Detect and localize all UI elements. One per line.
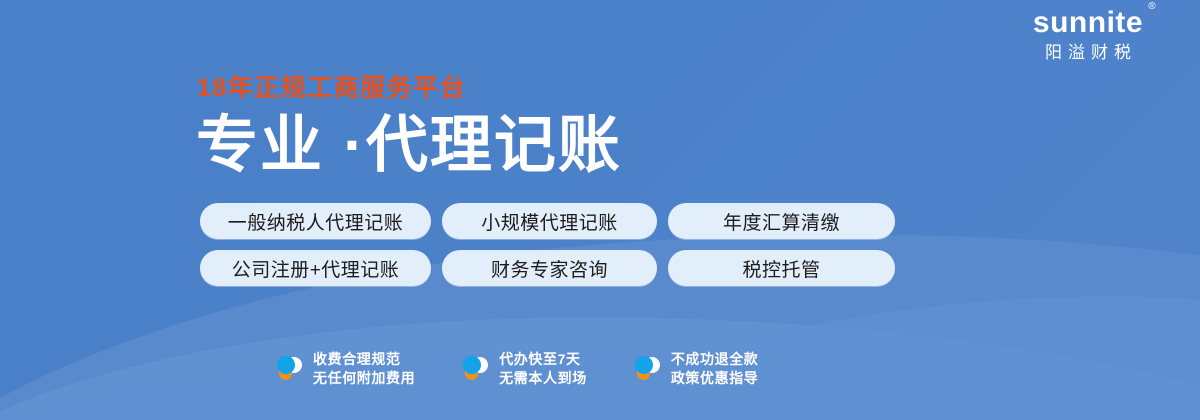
hero-kicker: 18年正规工商服务平台 [197, 73, 466, 103]
promo-banner: sunnite ® 阳溢财税 18年正规工商服务平台 专业 ·代理记账 一般纳税… [0, 0, 1200, 420]
logo-chinese-name: 阳溢财税 [998, 43, 1178, 63]
logo-wordmark: sunnite ® [1033, 6, 1143, 40]
feature-text: 收费合理规范 无任何附加费用 [313, 350, 415, 388]
feature-list: 收费合理规范 无任何附加费用 代办快至7天 无需本人到场 不成功退全款 [276, 350, 758, 388]
dot-moon-icon-dot [277, 356, 295, 374]
registered-trademark-icon: ® [1148, 2, 1156, 12]
feature-text: 代办快至7天 无需本人到场 [499, 350, 587, 388]
feature-text: 不成功退全款 政策优惠指导 [671, 350, 759, 388]
dot-moon-icon [276, 354, 304, 384]
service-pill[interactable]: 税控托管 [668, 250, 895, 286]
service-pill[interactable]: 公司注册+代理记账 [200, 250, 431, 286]
feature-line-1: 不成功退全款 [671, 351, 759, 367]
dot-moon-icon [634, 354, 662, 384]
feature-line-1: 收费合理规范 [313, 351, 401, 367]
feature-item: 收费合理规范 无任何附加费用 [276, 350, 415, 388]
service-pill[interactable]: 一般纳税人代理记账 [200, 203, 431, 239]
feature-line-2: 无任何附加费用 [313, 370, 415, 386]
feature-line-2: 无需本人到场 [499, 370, 587, 386]
dot-moon-icon-dot [635, 356, 653, 374]
service-pill-group: 一般纳税人代理记账 小规模代理记账 年度汇算清缴 公司注册+代理记账 财务专家咨… [200, 203, 900, 286]
feature-item: 代办快至7天 无需本人到场 [462, 350, 587, 388]
dot-moon-icon [462, 354, 490, 384]
service-pill[interactable]: 财务专家咨询 [442, 250, 657, 286]
brand-logo[interactable]: sunnite ® 阳溢财税 [998, 6, 1178, 63]
logo-wordmark-text: sunnite [1033, 6, 1143, 39]
feature-line-2: 政策优惠指导 [671, 370, 759, 386]
service-pill[interactable]: 年度汇算清缴 [668, 203, 895, 239]
hero-headline: 专业 ·代理记账 [196, 110, 622, 182]
background-wave-ellipse [511, 266, 1200, 420]
feature-line-1: 代办快至7天 [499, 351, 580, 367]
feature-item: 不成功退全款 政策优惠指导 [634, 350, 759, 388]
service-pill[interactable]: 小规模代理记账 [442, 203, 657, 239]
